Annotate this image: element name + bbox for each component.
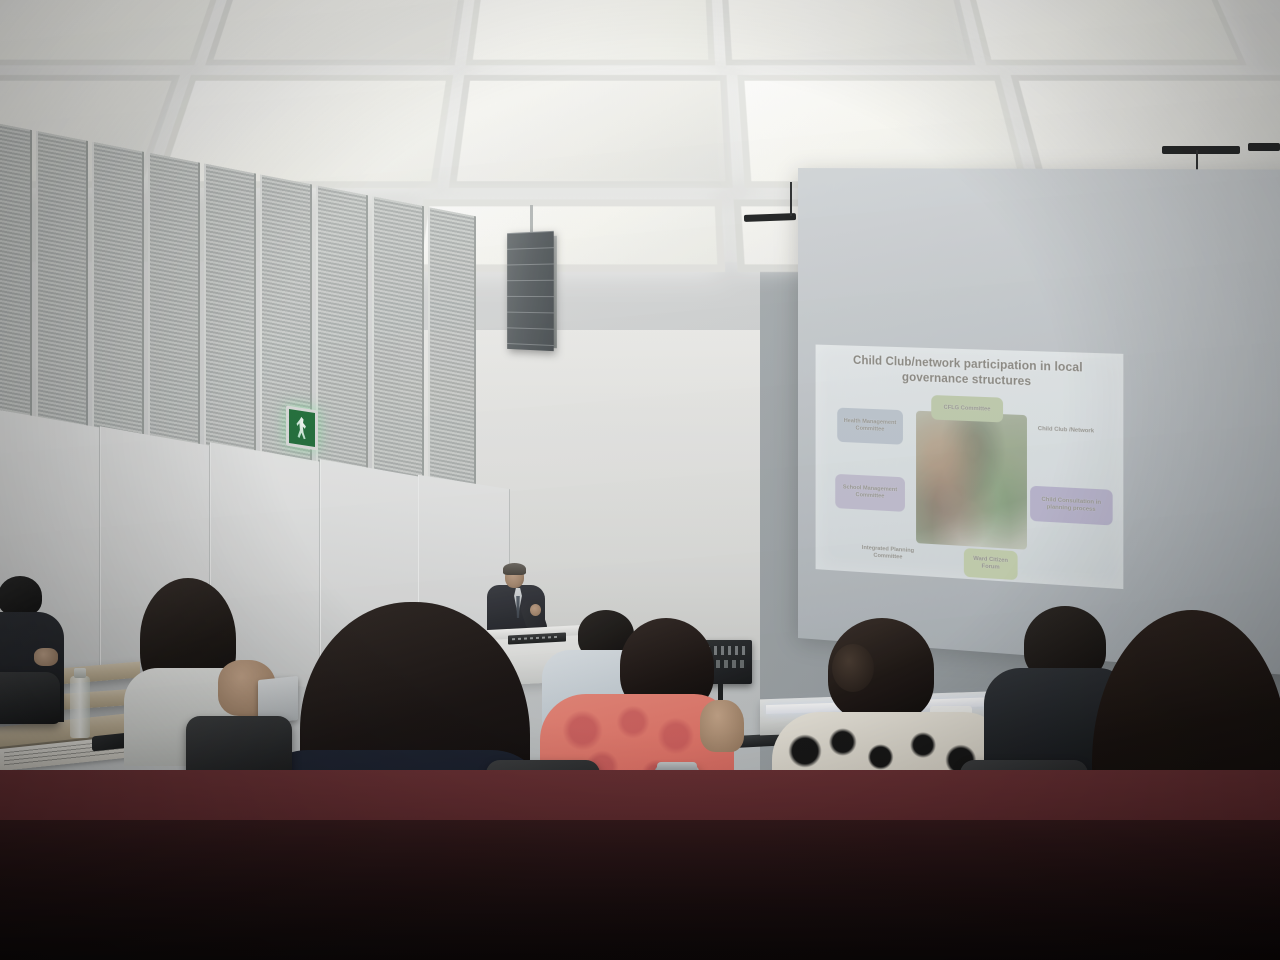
presenter-hand (530, 604, 541, 616)
attendee-left-suit-hand (34, 648, 58, 666)
exit-runner-icon (296, 416, 309, 440)
water-bottle-cap (74, 668, 86, 678)
presenter-hair (503, 563, 526, 575)
attendee-coral-floral-arm (700, 700, 744, 752)
speaker-mount-stem (530, 205, 533, 233)
slide-title: Child Club/network participation in loca… (827, 353, 1110, 393)
slide-node-cflg-committee: CFLG Committee (931, 395, 1003, 422)
slide-node-ward-citizen-forum: Ward Citizen Forum (964, 548, 1018, 580)
screen-drop-left (790, 182, 792, 216)
conference-room-scene: Child Club/network participation in loca… (0, 0, 1280, 960)
foreground-shadow (0, 820, 1280, 960)
attendee-left-suit-hair (0, 576, 42, 616)
chair-back-left (0, 672, 60, 724)
slide-node-health-management-committee: Health Management Committee (837, 408, 903, 445)
slide-node-child-club-network: Child Club /Network (1030, 415, 1102, 445)
projection-screen: Child Club/network participation in loca… (798, 168, 1280, 676)
attendee-circle-pattern-bun (832, 644, 874, 692)
line-array-speaker (507, 231, 554, 351)
slide-node-child-consultation: Child Consultation in planning process (1030, 486, 1113, 526)
plastic-water-bottle (70, 676, 90, 738)
emergency-exit-sign (286, 405, 318, 450)
slide-center-photo (916, 411, 1027, 550)
presentation-slide: Child Club/network participation in loca… (816, 345, 1124, 590)
slide-node-integrated-planning-committee: Integrated Planning Committee (855, 537, 921, 569)
slide-node-school-management-committee: School Management Committee (835, 474, 905, 512)
screen-rail-right-2 (1248, 143, 1280, 151)
screen-rail-right (1162, 146, 1240, 154)
